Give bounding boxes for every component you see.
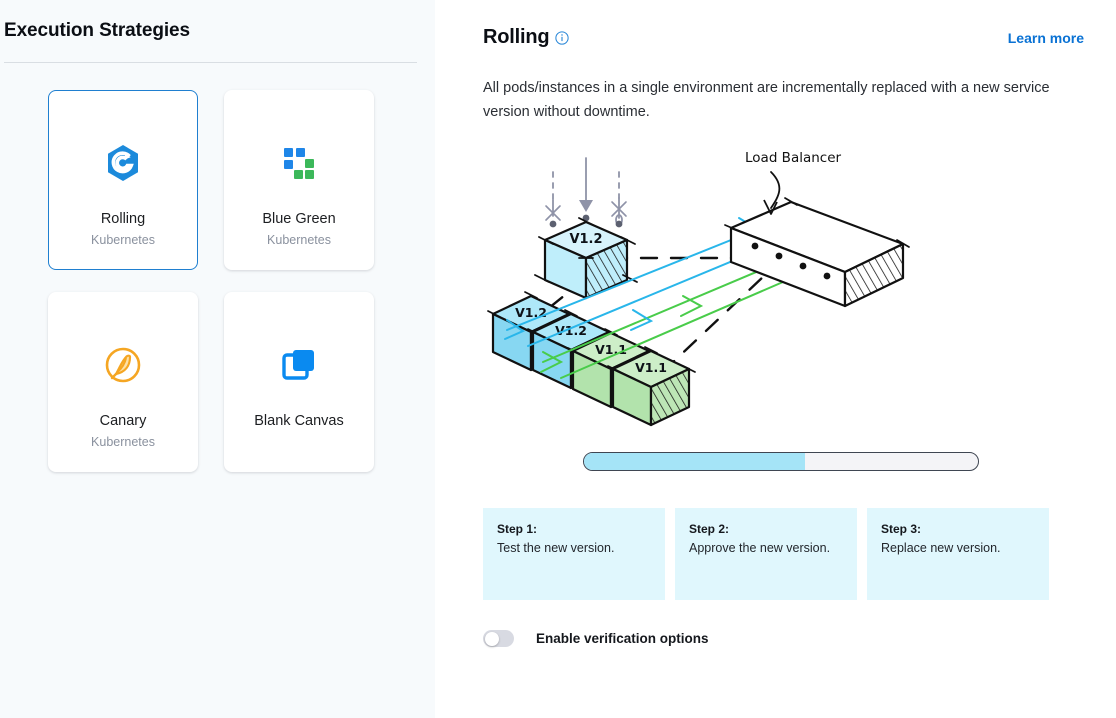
incoming-pod-group: V1.2 <box>535 158 637 298</box>
step-card-3: Step 3: Replace new version. <box>867 508 1049 600</box>
step-text: Approve the new version. <box>689 541 843 555</box>
strategy-card-title: Canary <box>100 413 147 429</box>
rolling-hexagon-icon <box>103 142 143 184</box>
strategy-card-grid: Rolling Kubernetes Blue Green Kubern <box>0 63 435 472</box>
strategy-card-rolling[interactable]: Rolling Kubernetes <box>48 90 198 270</box>
canary-bird-icon <box>103 344 143 386</box>
progress-bar-fill <box>584 453 805 470</box>
toggle-knob <box>485 632 499 646</box>
load-balancer-label: Load Balancer <box>745 150 842 166</box>
toggle-label: Enable verification options <box>536 631 709 646</box>
blank-canvas-squares-icon <box>279 344 319 386</box>
rollout-progress-bar[interactable] <box>583 452 979 471</box>
enable-verification-toggle[interactable] <box>483 630 514 647</box>
step-label: Step 2: <box>689 522 843 536</box>
progress-bar-wrap <box>483 452 1084 471</box>
strategy-card-title: Blue Green <box>262 211 335 227</box>
detail-title-wrap: Rolling <box>483 26 569 49</box>
step-label: Step 3: <box>881 522 1035 536</box>
detail-header: Rolling Learn more <box>483 26 1084 49</box>
execution-strategies-panel: Execution Strategies Rolling Kubernetes <box>0 0 435 718</box>
learn-more-link[interactable]: Learn more <box>1008 30 1084 46</box>
detail-title: Rolling <box>483 26 549 49</box>
svg-text:V1.1: V1.1 <box>595 342 627 357</box>
rolling-strategy-illustration: V1.2 V1.2 <box>483 140 1083 450</box>
step-text: Test the new version. <box>497 541 651 555</box>
step-card-1: Step 1: Test the new version. <box>483 508 665 600</box>
verification-options-row: Enable verification options <box>483 630 1084 647</box>
detail-description: All pods/instances in a single environme… <box>483 76 1063 124</box>
page-title: Execution Strategies <box>0 0 435 42</box>
strategy-card-subtitle: Kubernetes <box>267 233 331 247</box>
step-card-2: Step 2: Approve the new version. <box>675 508 857 600</box>
steps-row: Step 1: Test the new version. Step 2: Ap… <box>483 508 1084 600</box>
strategy-card-blank-canvas[interactable]: Blank Canvas <box>224 292 374 472</box>
blue-green-grid-icon <box>279 142 319 184</box>
strategy-detail-panel: Rolling Learn more All pods/instances in… <box>435 0 1116 718</box>
load-balancer-box <box>725 198 909 306</box>
strategy-card-title: Blank Canvas <box>254 413 343 429</box>
step-label: Step 1: <box>497 522 651 536</box>
strategy-card-blue-green[interactable]: Blue Green Kubernetes <box>224 90 374 270</box>
step-text: Replace new version. <box>881 541 1035 555</box>
strategy-card-subtitle: Kubernetes <box>91 233 155 247</box>
info-circle-icon[interactable] <box>555 31 569 45</box>
pod-label: V1.2 <box>569 232 602 247</box>
app-root: Execution Strategies Rolling Kubernetes <box>0 0 1116 718</box>
strategy-card-canary[interactable]: Canary Kubernetes <box>48 292 198 472</box>
svg-text:V1.2: V1.2 <box>555 323 587 338</box>
strategy-card-title: Rolling <box>101 211 145 227</box>
svg-text:V1.1: V1.1 <box>635 360 667 375</box>
svg-text:V1.2: V1.2 <box>515 305 547 320</box>
strategy-card-subtitle: Kubernetes <box>91 435 155 449</box>
